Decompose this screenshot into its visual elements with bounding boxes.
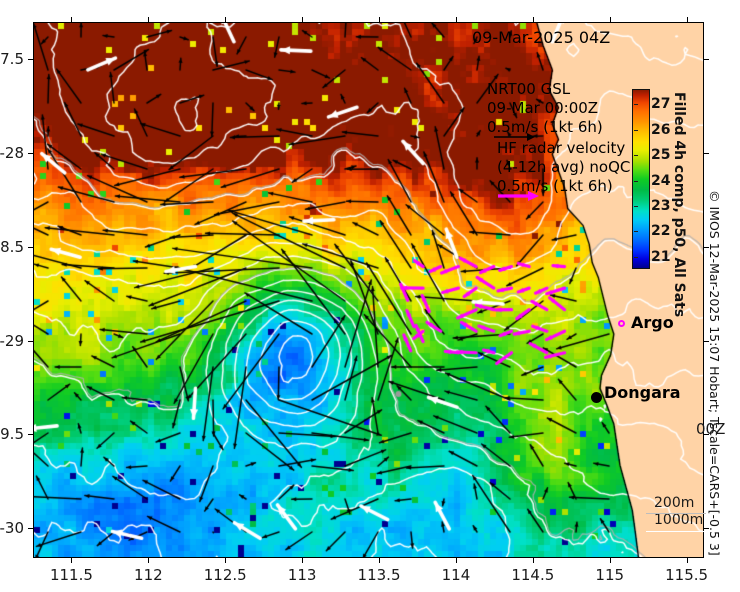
y-axis-tick	[28, 153, 34, 154]
x-axis-tick	[148, 557, 149, 563]
y-axis-label: -28.5	[0, 238, 24, 256]
y-axis-tick	[703, 59, 709, 60]
x-axis-tick	[148, 17, 149, 23]
y-axis-label: -28	[0, 144, 24, 162]
depth-200m-line	[646, 513, 706, 514]
date-stamp: 09-Mar-2025 04Z	[472, 28, 610, 47]
colorbar-tick	[634, 104, 638, 105]
y-axis-tick	[28, 434, 34, 435]
colorbar-tick-label: 24	[651, 173, 670, 189]
model-velocity-legend: NRT00 GSL 09-Mar 00:00Z 0.5m/s (1kt 6h)	[487, 80, 603, 137]
x-axis-tick	[379, 557, 380, 563]
y-axis-label: -27.5	[0, 50, 24, 68]
truncated-time-label: 00Z	[696, 420, 725, 438]
colorbar-tick-label: 27	[651, 96, 670, 112]
x-axis-tick	[302, 557, 303, 563]
y-axis-tick	[28, 59, 34, 60]
sst-colorbar	[632, 89, 650, 269]
x-axis-tick	[71, 17, 72, 23]
x-axis-label: 111.5	[50, 566, 93, 584]
x-axis-tick	[610, 17, 611, 23]
hf-radar-legend: HF radar velocity (4-12h avg) noQC 0.5m/…	[497, 139, 630, 196]
hf-radar-velocity-arrow-icon	[497, 190, 539, 202]
argo-legend-marker-icon	[618, 320, 625, 327]
x-axis-tick	[533, 17, 534, 23]
x-axis-tick	[302, 17, 303, 23]
y-axis-tick	[703, 153, 709, 154]
x-axis-label: 113.5	[358, 566, 401, 584]
map-plot-area[interactable]	[33, 22, 704, 558]
y-axis-label: -30	[0, 519, 24, 537]
x-axis-tick	[71, 557, 72, 563]
colorbar-tick-label: 21	[651, 249, 670, 265]
x-axis-label: 113	[288, 566, 317, 584]
depth-1000m-line	[646, 531, 706, 532]
y-axis-tick	[28, 528, 34, 529]
colorbar-title: Filled 4h comp, p50, All Sats	[669, 92, 687, 264]
dongara-city-marker-icon	[591, 392, 602, 403]
argo-legend-label: Argo	[631, 313, 674, 332]
x-axis-tick	[610, 557, 611, 563]
colorbar-tick	[634, 130, 638, 131]
y-axis-tick	[28, 247, 34, 248]
colorbar-tick	[634, 206, 638, 207]
x-axis-tick	[379, 17, 380, 23]
x-axis-tick	[533, 557, 534, 563]
y-axis-label: -29	[0, 332, 24, 350]
y-axis-tick	[28, 341, 34, 342]
x-axis-label: 114.5	[511, 566, 554, 584]
dongara-city-label: Dongara	[604, 383, 681, 402]
attribution-text: © IMOS 12-Mar-2025 15:07 Hobart; Tscale=…	[707, 190, 722, 562]
x-axis-tick	[687, 557, 688, 563]
x-axis-tick	[225, 17, 226, 23]
colorbar-tick	[634, 181, 638, 182]
depth-contour-scale-labels: 200m 1000m	[654, 495, 703, 529]
x-axis-tick	[687, 17, 688, 23]
x-axis-label: 115	[595, 566, 624, 584]
x-axis-label: 112	[134, 566, 163, 584]
colorbar-tick-label: 26	[651, 122, 670, 138]
colorbar-tick-label: 25	[651, 147, 670, 163]
x-axis-tick	[225, 557, 226, 563]
colorbar-tick-label: 22	[651, 223, 670, 239]
colorbar-tick-label: 23	[651, 198, 670, 214]
colorbar-tick	[634, 155, 638, 156]
x-axis-label: 115.5	[665, 566, 708, 584]
x-axis-label: 114	[442, 566, 471, 584]
colorbar-tick	[634, 257, 638, 258]
x-axis-label: 112.5	[204, 566, 247, 584]
colorbar-tick	[634, 231, 638, 232]
y-axis-label: -29.5	[0, 425, 24, 443]
x-axis-tick	[456, 17, 457, 23]
x-axis-tick	[456, 557, 457, 563]
figure-root: 111.5112112.5113113.5114114.5115115.5-27…	[0, 0, 740, 592]
